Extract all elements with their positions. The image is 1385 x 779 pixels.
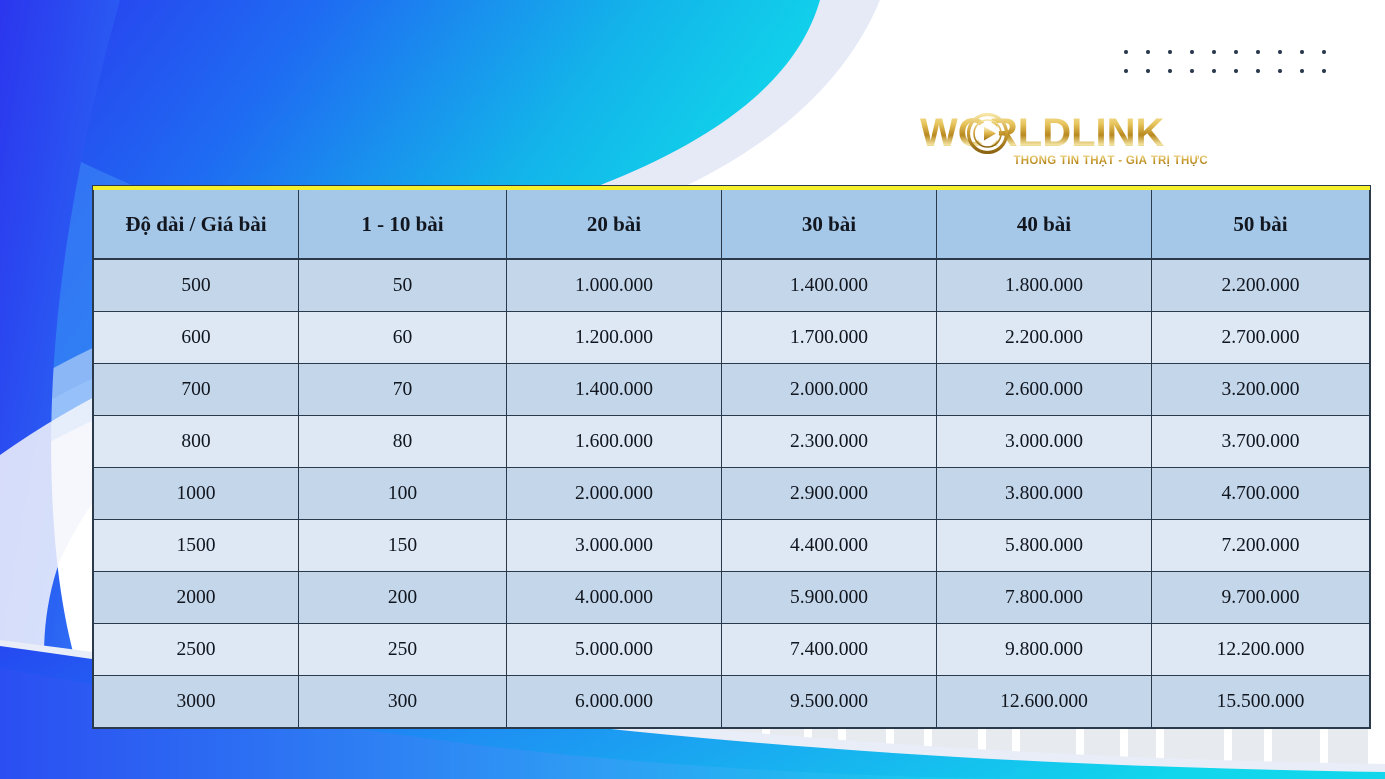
cell-price: 250 (299, 624, 507, 676)
cell-price: 2.600.000 (937, 364, 1152, 416)
cell-price: 70 (299, 364, 507, 416)
column-header-20: 20 bài (507, 188, 722, 259)
cell-price: 2.000.000 (507, 468, 722, 520)
dot (1322, 69, 1326, 73)
table-row: 700 70 1.400.000 2.000.000 2.600.000 3.2… (94, 364, 1370, 416)
dot (1300, 69, 1304, 73)
cell-price: 50 (299, 259, 507, 312)
column-header-1-10: 1 - 10 bài (299, 188, 507, 259)
cell-price: 200 (299, 572, 507, 624)
cell-price: 7.400.000 (722, 624, 937, 676)
cell-price: 4.700.000 (1152, 468, 1370, 520)
cell-price: 9.700.000 (1152, 572, 1370, 624)
cell-price: 300 (299, 676, 507, 728)
table-header-row: Độ dài / Giá bài 1 - 10 bài 20 bài 30 bà… (94, 188, 1370, 259)
table-row: 800 80 1.600.000 2.300.000 3.000.000 3.7… (94, 416, 1370, 468)
dot-grid-decoration (1124, 50, 1344, 88)
dot (1322, 50, 1326, 54)
cell-price: 6.000.000 (507, 676, 722, 728)
cell-price: 1.700.000 (722, 312, 937, 364)
cell-price: 3.200.000 (1152, 364, 1370, 416)
logo-text: WORLDLINK (920, 112, 1164, 154)
dot (1190, 50, 1194, 54)
table-row: 500 50 1.000.000 1.400.000 1.800.000 2.2… (94, 259, 1370, 312)
worldlink-logo: WORLDLINK THÔNG TIN THẬT - GIÁ TRỊ THỰC (920, 112, 1210, 174)
table-row: 2500 250 5.000.000 7.400.000 9.800.000 1… (94, 624, 1370, 676)
dot (1300, 50, 1304, 54)
cell-price: 7.800.000 (937, 572, 1152, 624)
table-row: 2000 200 4.000.000 5.900.000 7.800.000 9… (94, 572, 1370, 624)
dot (1168, 69, 1172, 73)
dot (1168, 50, 1172, 54)
cell-price: 3.000.000 (507, 520, 722, 572)
dot (1256, 69, 1260, 73)
cell-price: 1.400.000 (722, 259, 937, 312)
cell-price: 3.700.000 (1152, 416, 1370, 468)
cell-price: 2.200.000 (1152, 259, 1370, 312)
cell-price: 150 (299, 520, 507, 572)
cell-price: 3.800.000 (937, 468, 1152, 520)
column-header-length: Độ dài / Giá bài (94, 188, 299, 259)
cell-price: 5.900.000 (722, 572, 937, 624)
cell-length: 800 (94, 416, 299, 468)
cell-price: 3.000.000 (937, 416, 1152, 468)
cell-price: 2.700.000 (1152, 312, 1370, 364)
cell-price: 2.000.000 (722, 364, 937, 416)
table-body: 500 50 1.000.000 1.400.000 1.800.000 2.2… (94, 259, 1370, 728)
dot (1212, 69, 1216, 73)
cell-price: 100 (299, 468, 507, 520)
price-table-container: Độ dài / Giá bài 1 - 10 bài 20 bài 30 bà… (93, 186, 1369, 728)
cell-price: 2.200.000 (937, 312, 1152, 364)
cell-price: 5.000.000 (507, 624, 722, 676)
cell-price: 12.200.000 (1152, 624, 1370, 676)
cell-price: 15.500.000 (1152, 676, 1370, 728)
logo-tagline: THÔNG TIN THẬT - GIÁ TRỊ THỰC (920, 155, 1210, 167)
dot (1234, 69, 1238, 73)
cell-price: 5.800.000 (937, 520, 1152, 572)
dot (1234, 50, 1238, 54)
cell-length: 500 (94, 259, 299, 312)
cell-length: 2000 (94, 572, 299, 624)
price-table: Độ dài / Giá bài 1 - 10 bài 20 bài 30 bà… (93, 186, 1370, 728)
slide-canvas: WORLDLINK THÔNG TIN THẬT - GIÁ TRỊ THỰC … (0, 0, 1385, 779)
cell-price: 9.800.000 (937, 624, 1152, 676)
cell-price: 9.500.000 (722, 676, 937, 728)
cell-length: 600 (94, 312, 299, 364)
dot (1256, 50, 1260, 54)
cell-length: 3000 (94, 676, 299, 728)
cell-length: 700 (94, 364, 299, 416)
cell-length: 1000 (94, 468, 299, 520)
cell-price: 12.600.000 (937, 676, 1152, 728)
cell-price: 2.300.000 (722, 416, 937, 468)
table-row: 3000 300 6.000.000 9.500.000 12.600.000 … (94, 676, 1370, 728)
cell-length: 2500 (94, 624, 299, 676)
cell-price: 1.600.000 (507, 416, 722, 468)
table-row: 1000 100 2.000.000 2.900.000 3.800.000 4… (94, 468, 1370, 520)
cell-price: 7.200.000 (1152, 520, 1370, 572)
cell-price: 4.400.000 (722, 520, 937, 572)
dot (1190, 69, 1194, 73)
column-header-40: 40 bài (937, 188, 1152, 259)
cell-price: 60 (299, 312, 507, 364)
cell-price: 80 (299, 416, 507, 468)
cell-length: 1500 (94, 520, 299, 572)
dot (1124, 69, 1128, 73)
column-header-30: 30 bài (722, 188, 937, 259)
logo-wordmark: WORLDLINK (920, 112, 1210, 154)
dot (1278, 69, 1282, 73)
dot (1146, 50, 1150, 54)
table-row: 1500 150 3.000.000 4.400.000 5.800.000 7… (94, 520, 1370, 572)
column-header-50: 50 bài (1152, 188, 1370, 259)
cell-price: 4.000.000 (507, 572, 722, 624)
cell-price: 1.400.000 (507, 364, 722, 416)
cell-price: 2.900.000 (722, 468, 937, 520)
cell-price: 1.800.000 (937, 259, 1152, 312)
cell-price: 1.000.000 (507, 259, 722, 312)
dot (1124, 50, 1128, 54)
play-circle-icon (967, 113, 1008, 154)
cell-price: 1.200.000 (507, 312, 722, 364)
dot (1146, 69, 1150, 73)
dot (1278, 50, 1282, 54)
dot (1212, 50, 1216, 54)
table-row: 600 60 1.200.000 1.700.000 2.200.000 2.7… (94, 312, 1370, 364)
